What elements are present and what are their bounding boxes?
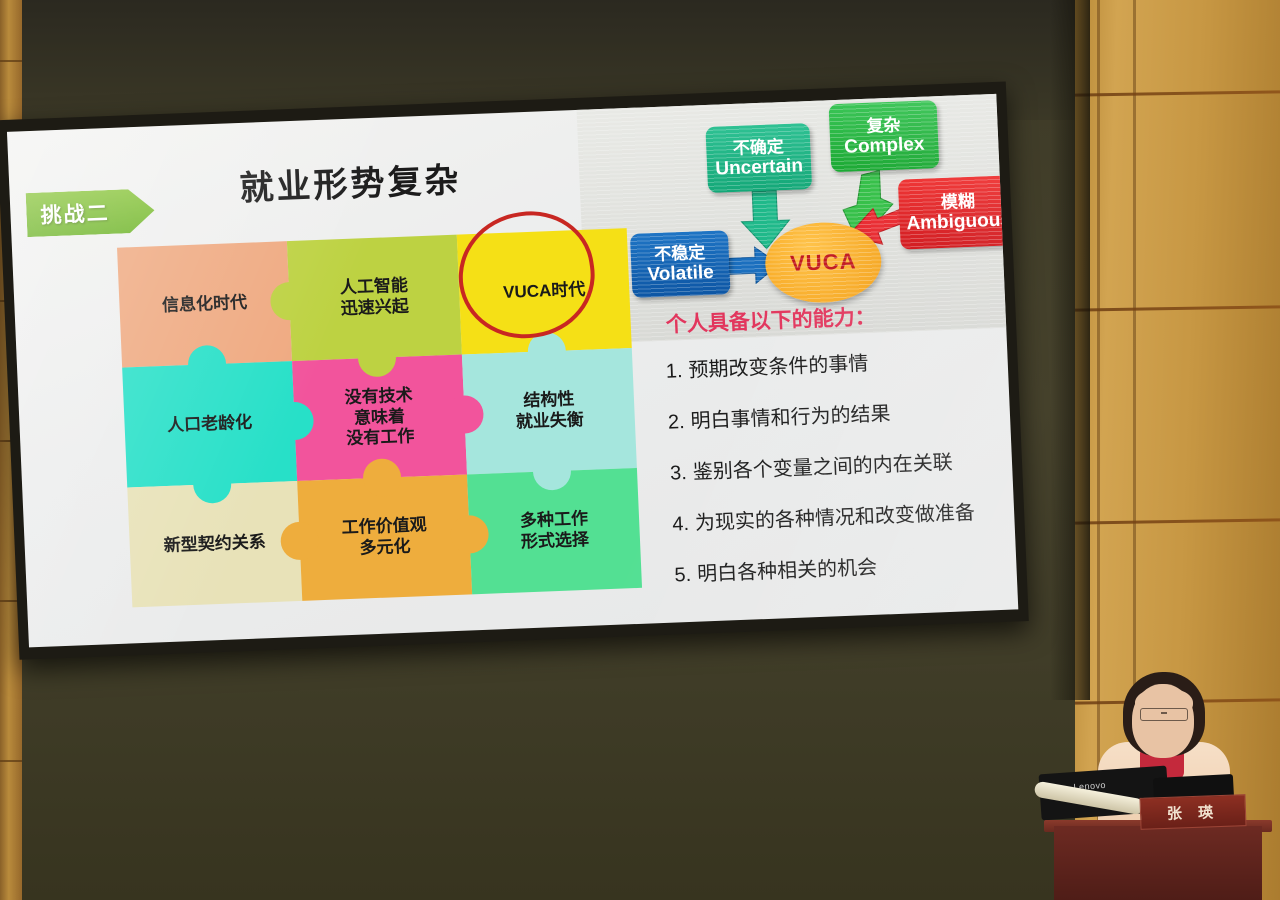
capability-item: 3.鉴别各个变量之间的内在关联 bbox=[669, 443, 1018, 486]
vuca-uncertain-en: Uncertain bbox=[707, 155, 812, 180]
capability-number: 3. bbox=[670, 462, 688, 485]
puzzle-piece-line: 多种工作 bbox=[520, 509, 589, 532]
wall-shadow bbox=[1050, 0, 1090, 700]
puzzle-piece-line: 没有工作 bbox=[346, 427, 415, 450]
puzzle-piece-line: 工作价值观 bbox=[341, 515, 427, 539]
vuca-box-ambiguous: 模糊 Ambiguous bbox=[898, 175, 1018, 249]
vuca-complex-cn: 复杂 bbox=[829, 114, 938, 137]
glasses-icon bbox=[1140, 708, 1188, 721]
presentation-photo: 挑战二 就业形势复杂 不确定 Uncertain bbox=[0, 0, 1280, 900]
puzzle-piece-line: 结构性 bbox=[523, 390, 575, 413]
vuca-ambiguous-en: Ambiguous bbox=[899, 209, 1018, 235]
capability-number: 5. bbox=[674, 564, 692, 587]
puzzle-grid: 信息化时代人工智能迅速兴起VUCA时代人口老龄化没有技术意味着没有工作结构性就业… bbox=[117, 228, 642, 607]
capability-item: 5.明白各种相关的机会 bbox=[674, 545, 1018, 588]
podium-body bbox=[1054, 826, 1262, 900]
vuca-box-uncertain: 不确定 Uncertain bbox=[705, 123, 812, 193]
podium-area: Lenovo 张 瑛 bbox=[1030, 668, 1280, 900]
speaker-face bbox=[1132, 684, 1194, 758]
capability-text: 为现实的各种情况和改变做准备 bbox=[695, 502, 976, 535]
capability-item: 1.预期改变条件的事情 bbox=[665, 341, 1018, 384]
vuca-volatile-en: Volatile bbox=[631, 261, 730, 286]
puzzle-piece-line: 多元化 bbox=[359, 537, 411, 560]
puzzle-piece-line: 就业失衡 bbox=[515, 410, 584, 433]
speaker-name: 张 瑛 bbox=[1167, 801, 1220, 824]
puzzle-piece-line: 人工智能 bbox=[340, 276, 409, 299]
capability-item: 2.明白事情和行为的结果 bbox=[667, 392, 1018, 435]
speaker-nameplate: 张 瑛 bbox=[1139, 794, 1246, 830]
vuca-complex-en: Complex bbox=[830, 133, 939, 158]
challenge-badge: 挑战二 bbox=[26, 188, 156, 237]
lower-wall-band bbox=[0, 655, 1080, 900]
capability-number: 4. bbox=[672, 513, 690, 536]
capability-text: 明白事情和行为的结果 bbox=[690, 403, 891, 433]
vuca-volatile-cn: 不稳定 bbox=[630, 242, 729, 265]
puzzle-piece-line: 人口老龄化 bbox=[167, 412, 253, 436]
capability-number: 1. bbox=[665, 360, 683, 383]
slide-title: 就业形势复杂 bbox=[238, 152, 462, 209]
arrow-uncertain bbox=[740, 190, 790, 250]
slide-content: 挑战二 就业形势复杂 不确定 Uncertain bbox=[7, 94, 1018, 648]
vuca-box-volatile: 不稳定 Volatile bbox=[630, 230, 731, 298]
arrow-complex bbox=[841, 170, 894, 244]
vuca-center-label: VUCA bbox=[790, 248, 857, 277]
capabilities-list: 1.预期改变条件的事情2.明白事情和行为的结果3.鉴别各个变量之间的内在关联4.… bbox=[665, 341, 1018, 610]
capability-text: 预期改变条件的事情 bbox=[688, 353, 869, 382]
projection-screen: 挑战二 就业形势复杂 不确定 Uncertain bbox=[0, 81, 1029, 659]
capability-number: 2. bbox=[668, 411, 686, 434]
vuca-center-circle: VUCA bbox=[764, 220, 883, 304]
puzzle-piece-line: 新型契约关系 bbox=[163, 532, 266, 557]
vuca-ambiguous-cn: 模糊 bbox=[898, 190, 1017, 214]
puzzle-piece-line: 迅速兴起 bbox=[340, 297, 409, 320]
vuca-uncertain-cn: 不确定 bbox=[706, 136, 811, 159]
capability-text: 鉴别各个变量之间的内在关联 bbox=[692, 452, 953, 484]
puzzle-piece-line: 信息化时代 bbox=[162, 292, 248, 316]
vuca-box-complex: 复杂 Complex bbox=[829, 100, 940, 172]
arrow-volatile bbox=[729, 246, 781, 284]
puzzle-piece-line: 意味着 bbox=[354, 406, 406, 429]
capability-text: 明白各种相关的机会 bbox=[697, 557, 878, 586]
arrow-ambiguous bbox=[847, 208, 902, 246]
capability-item: 4.为现实的各种情况和改变做准备 bbox=[672, 494, 1019, 537]
puzzle-piece-line: 没有技术 bbox=[344, 385, 413, 408]
puzzle-piece-line: 形式选择 bbox=[521, 530, 590, 553]
challenge-badge-label: 挑战二 bbox=[40, 197, 110, 230]
